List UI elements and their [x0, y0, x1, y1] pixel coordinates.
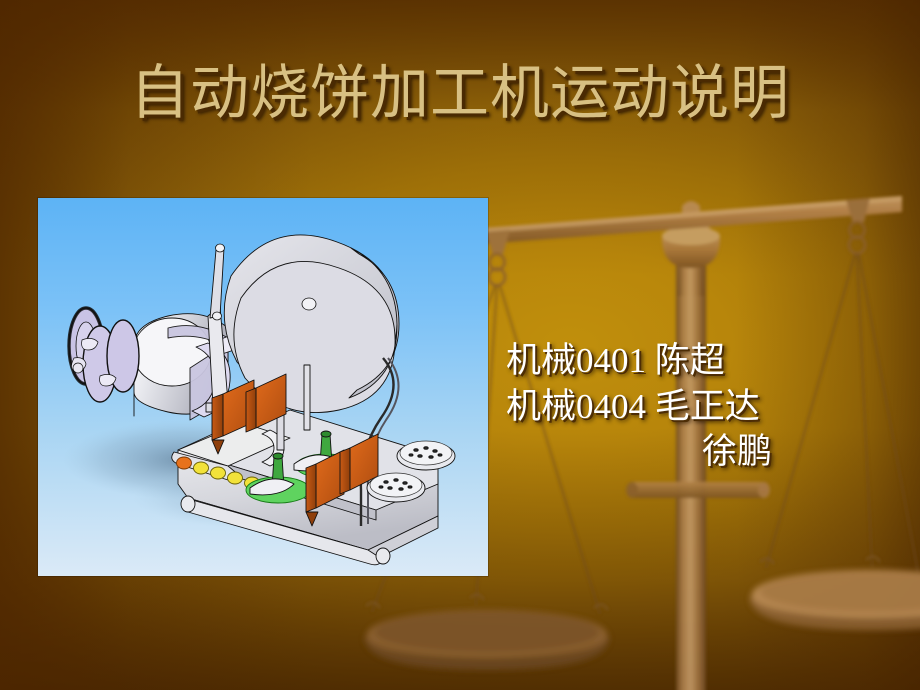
machine-illustration — [38, 198, 488, 576]
author-line-2: 机械0404 毛正达 — [500, 384, 880, 430]
author-line-3: 徐鹏 — [500, 429, 880, 475]
author-list: 机械0401 陈超 机械0404 毛正达 徐鹏 — [500, 338, 880, 475]
author-line-1: 机械0401 陈超 — [500, 338, 880, 384]
slide-title: 自动烧饼加工机运动说明 — [0, 62, 920, 126]
presentation-slide: 自动烧饼加工机运动说明 — [0, 0, 920, 690]
